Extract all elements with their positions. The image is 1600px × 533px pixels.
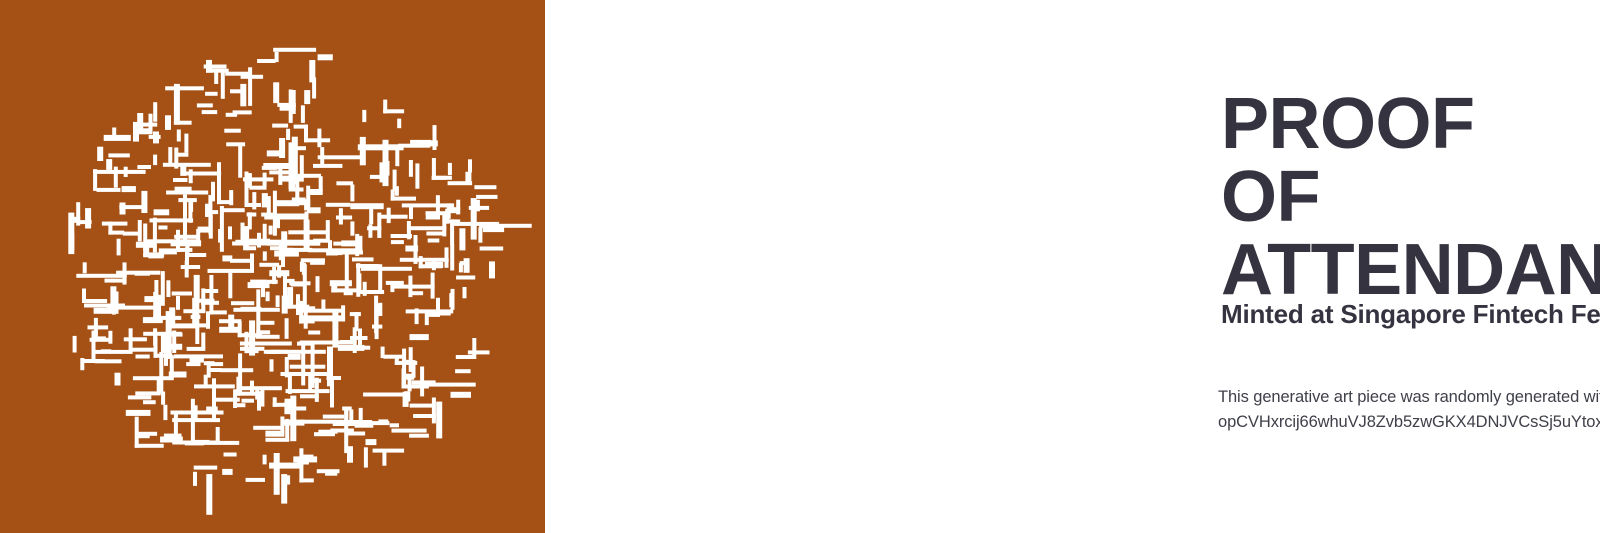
proof-of-attendance-certificate: PROOF OF ATTENDANCE Minted at Singapore … — [0, 0, 1600, 533]
page-title: PROOF OF ATTENDANCE — [1221, 88, 1600, 307]
generative-art-blob — [0, 0, 545, 533]
headline-line-2: OF — [1221, 161, 1600, 234]
event-subtitle: Minted at Singapore Fintech Festival 202… — [1221, 299, 1600, 329]
headline-line-1: PROOF — [1221, 88, 1600, 161]
hash-description-line: This generative art piece was randomly g… — [1218, 385, 1600, 410]
blockchain-hash-value: opCVHxrcij66whuVJ8Zvb5zwGKX4DNJVCsSj5uYt… — [1218, 410, 1600, 435]
generative-art-panel — [0, 0, 545, 533]
hash-description: This generative art piece was randomly g… — [1218, 385, 1600, 435]
certificate-info-panel: PROOF OF ATTENDANCE Minted at Singapore … — [545, 0, 1600, 533]
headline-line-3: ATTENDANCE — [1221, 234, 1600, 307]
